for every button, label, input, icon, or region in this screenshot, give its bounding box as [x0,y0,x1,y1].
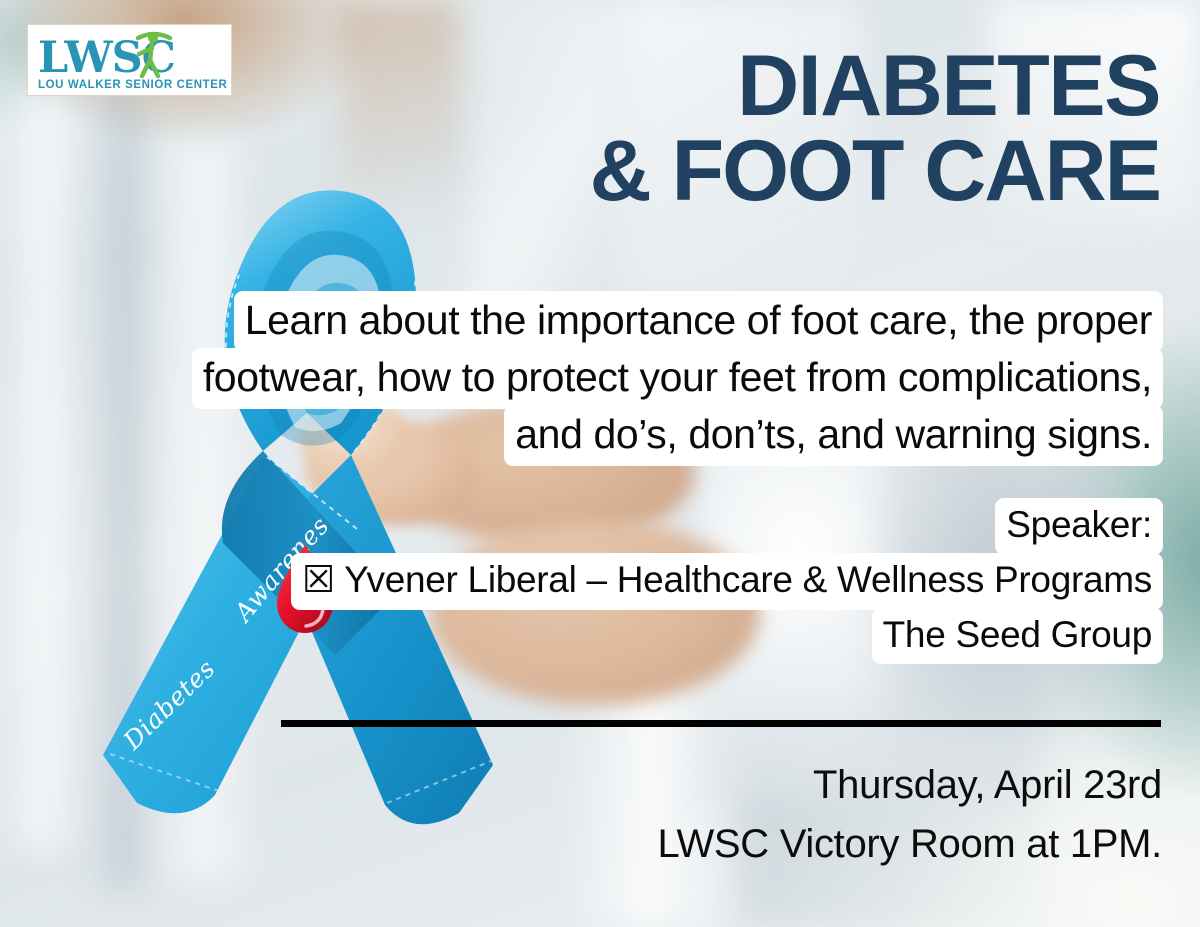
title-line-1: DIABETES [590,44,1160,129]
description-line: and do’s, don’ts, and warning signs. [504,405,1163,466]
event-location: LWSC Victory Room at 1PM. [262,815,1162,874]
speaker-affiliation: The Seed Group [872,608,1163,665]
logo-subtitle: LOU WALKER SENIOR CENTER [38,79,228,91]
description-line: Learn about the importance of foot care,… [234,291,1163,352]
event-details: Thursday, April 23rd LWSC Victory Room a… [262,756,1162,874]
speaker-name: ☒ Yvener Liberal – Healthcare & Wellness… [291,553,1163,610]
fabric-fold [8,90,78,850]
description-line: footwear, how to protect your feet from … [192,348,1163,409]
organization-logo: LWSC LOU WALKER SENIOR CENTER [27,24,232,96]
horizontal-divider [281,720,1161,727]
description-text: Learn about the importance of foot care,… [33,291,1163,462]
diabetes-awareness-ribbon-icon: Awareness Diabetes [95,155,515,815]
title-line-2: & FOOT CARE [590,129,1160,214]
speaker-label: Speaker: [995,498,1163,555]
page-title: DIABETES & FOOT CARE [590,44,1160,214]
event-date: Thursday, April 23rd [262,756,1162,815]
speaker-section: Speaker: ☒ Yvener Liberal – Healthcare &… [33,498,1163,662]
poster-canvas: Awareness Diabetes LWSC LO [0,0,1200,927]
